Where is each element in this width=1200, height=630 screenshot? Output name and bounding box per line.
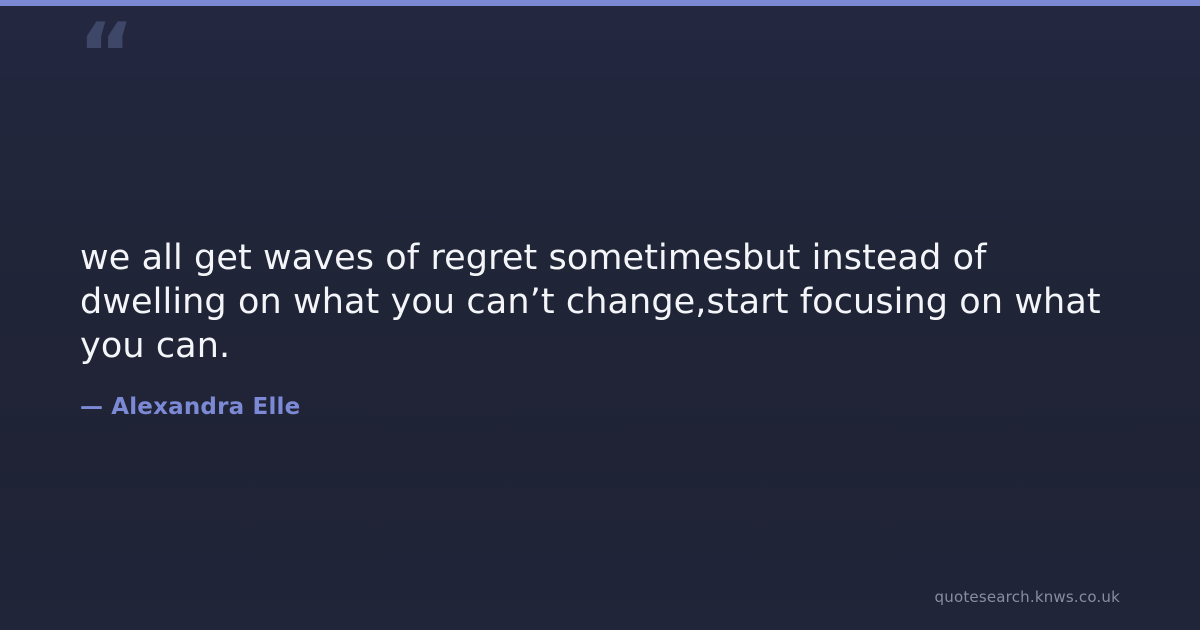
quote-content: we all get waves of regret sometimesbut … [80,236,1120,422]
top-accent-bar [0,0,1200,6]
attribution-dash: — [80,394,103,420]
quote-card: “ we all get waves of regret sometimesbu… [0,0,1200,630]
quote-text: we all get waves of regret sometimesbut … [80,236,1120,368]
source-watermark: quotesearch.knws.co.uk [935,588,1120,606]
quote-attribution: —Alexandra Elle [80,394,1120,422]
attribution-author: Alexandra Elle [111,394,300,420]
quotation-mark-icon: “ [78,12,148,96]
